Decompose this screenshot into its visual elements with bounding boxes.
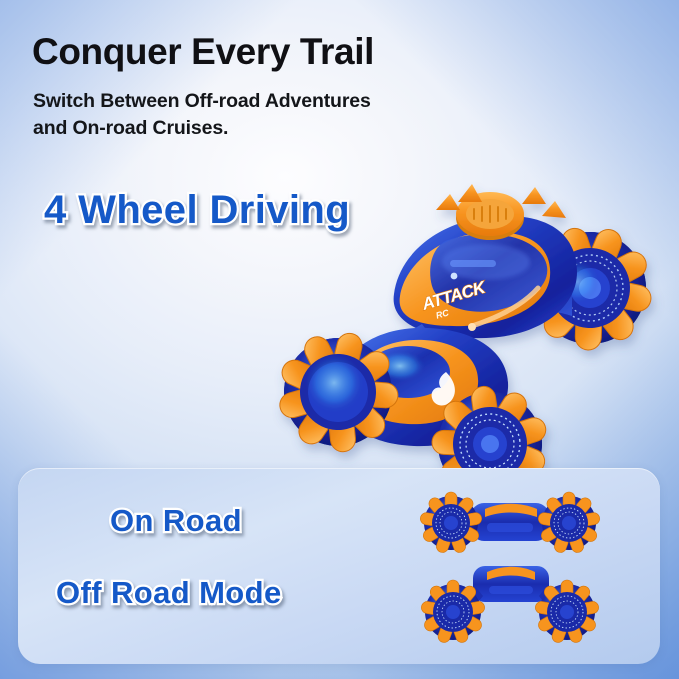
rc-car-on-road-image: [415, 487, 605, 559]
rc-car-hero-image: ATTACK RC: [272, 176, 672, 461]
rc-car-off-road-image: [415, 556, 605, 644]
page-subtitle: Switch Between Off-road Adventures and O…: [33, 88, 371, 142]
mode-label-off-road: Off Road Mode: [56, 575, 282, 611]
page-title: Conquer Every Trail: [32, 33, 374, 70]
subtitle-line-2: and On-road Cruises.: [33, 115, 371, 142]
wheel-right: [537, 492, 600, 554]
mode-label-on-road: On Road: [110, 503, 242, 539]
subtitle-line-1: Switch Between Off-road Adventures: [33, 88, 371, 115]
wheel-left: [419, 492, 482, 554]
banner-canvas: Conquer Every Trail Switch Between Off-r…: [0, 0, 679, 679]
